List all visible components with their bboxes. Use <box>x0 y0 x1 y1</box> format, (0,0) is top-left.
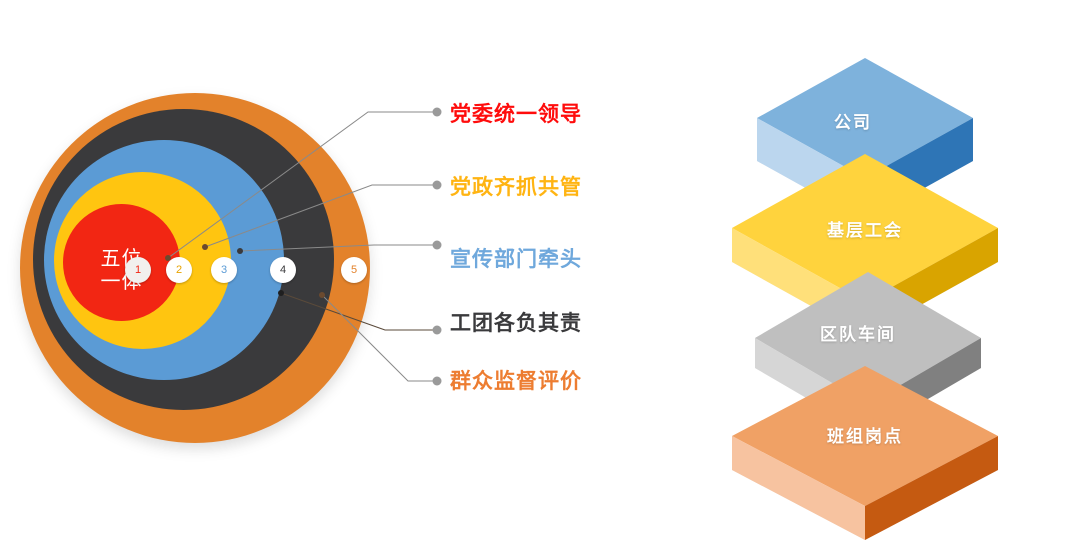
ring-badge-1-label: 1 <box>135 264 141 276</box>
ring-badge-5[interactable]: 5 <box>341 257 367 283</box>
stack-layer-grassroots-union-label: 基层工会 <box>715 216 1015 241</box>
label-2-text: 党政齐抓共管 <box>450 171 582 201</box>
center-label: 五位 一体 <box>63 248 180 294</box>
ring-badge-2-label: 2 <box>176 264 182 276</box>
ring-badge-4[interactable]: 4 <box>270 257 296 283</box>
stacked-layers-diagram: 公司 基层工会 区队车间 <box>700 0 1080 536</box>
ring-badge-3[interactable]: 3 <box>211 257 237 283</box>
label-3-text: 宣传部门牵头 <box>450 243 582 273</box>
label-4-text: 工团各负其责 <box>450 307 582 337</box>
ring-badge-3-label: 3 <box>221 264 227 276</box>
ring-badge-4-label: 4 <box>280 264 286 276</box>
stack-layer-company-label: 公司 <box>703 108 1003 133</box>
label-5-text: 群众监督评价 <box>450 365 582 395</box>
diagram-canvas: 五位 一体 1 2 <box>0 0 1080 536</box>
stack-layer-team-post[interactable]: 班组岗点 <box>714 346 1014 546</box>
stack-layer-team-post-label: 班组岗点 <box>715 422 1015 447</box>
ring-badge-2[interactable]: 2 <box>166 257 192 283</box>
stack-layer-workshop-label: 区队车间 <box>708 320 1008 345</box>
label-1-text: 党委统一领导 <box>450 98 582 128</box>
ring-badge-1[interactable]: 1 <box>125 257 151 283</box>
ring-badge-5-label: 5 <box>351 264 357 276</box>
